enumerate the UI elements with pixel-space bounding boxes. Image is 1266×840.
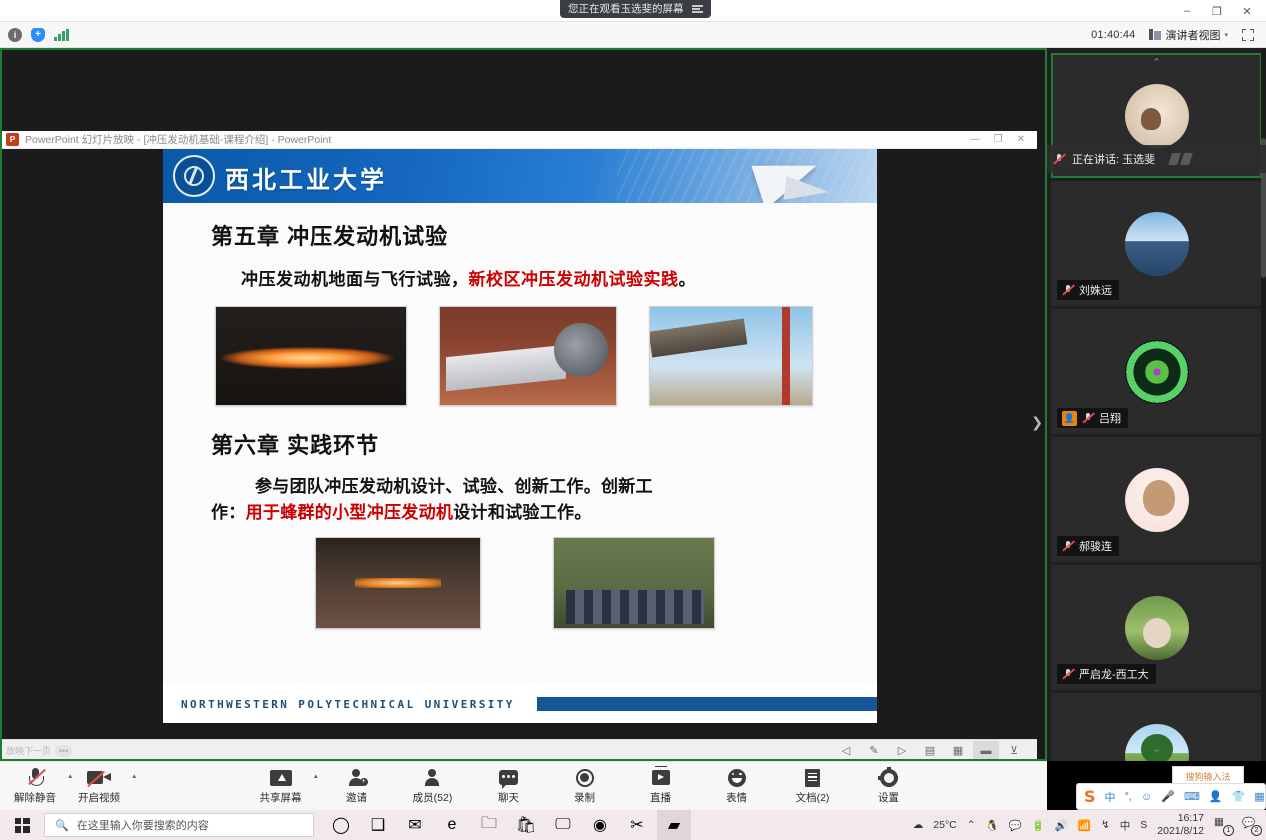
next-slide-button[interactable]: ▷	[889, 741, 915, 761]
settings-label: 设置	[878, 790, 899, 805]
ime-punctuation-toggle[interactable]: °,	[1125, 791, 1132, 803]
participant-video-sidebar[interactable]: ⌃ 正在讲话: 玉选斐 刘姝远 👤 吕翔	[1047, 48, 1266, 761]
ime-microphone-icon[interactable]: 🎤	[1161, 790, 1175, 803]
participant-tile-4[interactable]: 严启龙-西工大	[1051, 565, 1262, 690]
window-titlebar: 您正在观看玉选斐的屏幕 – ❐ ✕	[0, 0, 1266, 22]
participants-button[interactable]: 成员(52)	[410, 768, 456, 805]
participant-name: 刘姝远	[1079, 282, 1112, 298]
wifi-icon[interactable]: 📶	[1078, 819, 1091, 832]
slideshow-hint: 放映下一页 •••	[6, 744, 72, 757]
gear-icon	[880, 768, 898, 788]
next-slide-arrow[interactable]: ❯	[1031, 414, 1043, 431]
chevron-down-icon: ▾	[1224, 31, 1228, 39]
slideshow-hint-text: 放映下一页	[6, 744, 51, 757]
system-tray: ☁ 25°C ⌃ 🐧 💬 🔋 🔊 📶 ↯ 中 S 16:17 2021/8/12…	[913, 812, 1266, 838]
lab-test-stand-photo	[315, 537, 481, 629]
sogou-tray-icon[interactable]: S	[1140, 819, 1147, 831]
meeting-top-toolbar: i + 01:40:44 演讲者视图 ▾	[0, 22, 1266, 48]
clock-date: 2021/8/12	[1157, 825, 1204, 838]
city-waterfront-avatar	[1125, 212, 1189, 276]
clock-time: 16:17	[1178, 812, 1204, 825]
chapter5-subtitle: 冲压发动机地面与飞行试验，新校区冲压发动机试验实践。	[241, 265, 877, 290]
chapter6-line2-post: 设计和试验工作。	[453, 503, 591, 522]
chrome-icon[interactable]: ◉	[583, 810, 617, 840]
record-button[interactable]: 录制	[562, 768, 608, 805]
share-notice-text: 您正在观看玉选斐的屏幕	[568, 0, 684, 18]
start-video-label: 开启视频	[78, 790, 120, 805]
tray-overflow-icon[interactable]: ⌃	[967, 819, 976, 831]
more-options-button[interactable]: ▬	[973, 741, 999, 761]
invite-label: 邀请	[346, 790, 367, 805]
participant-tile-2[interactable]: 👤 吕翔	[1051, 309, 1262, 434]
shared-screen-area[interactable]: P PowerPoint 幻灯片放映 - [冲压发动机基础-课程介绍] - Po…	[0, 48, 1047, 761]
snip-tool-icon[interactable]: ✂	[620, 810, 654, 840]
mail-icon[interactable]: ✉	[398, 810, 432, 840]
microphone-muted-icon	[1062, 668, 1074, 680]
camera-off-icon	[87, 768, 111, 788]
share-screen-icon	[270, 768, 292, 788]
shield-icon[interactable]: +	[31, 28, 45, 42]
notification-count-1: 1	[1223, 825, 1234, 836]
unmute-button[interactable]: 解除静音 ▴	[12, 768, 58, 805]
powerpoint-logo-icon: P	[6, 133, 19, 146]
windows-taskbar: 🔍 在这里输入你要搜索的内容 ◯ ❑ ✉ e 🗀 🛍 🖵 ◉ ✂ ▰ ☁ 25°…	[0, 810, 1266, 840]
info-icon[interactable]: i	[8, 28, 22, 42]
mandala-avatar	[1125, 340, 1189, 404]
taskbar-search-input[interactable]: 🔍 在这里输入你要搜索的内容	[44, 813, 314, 837]
previous-slide-button[interactable]: ◁	[833, 741, 859, 761]
host-badge-icon: 👤	[1062, 411, 1077, 426]
ppt-close-button[interactable]: ✕	[1017, 134, 1025, 145]
volume-icon[interactable]: 🔊	[1055, 819, 1068, 832]
search-placeholder: 在这里输入你要搜索的内容	[77, 817, 209, 833]
document-icon	[805, 768, 820, 788]
microphone-muted-icon	[1082, 412, 1094, 424]
ppt-minimize-button[interactable]: —	[970, 134, 980, 145]
participant-name-badge: 👤 吕翔	[1057, 408, 1128, 428]
team-group-photo	[553, 537, 715, 629]
notification-count-2: 2	[1251, 825, 1262, 836]
action-center-icon[interactable]: 💬2	[1242, 816, 1260, 834]
participants-icon	[424, 768, 442, 788]
share-menu-icon[interactable]	[692, 5, 703, 13]
chat-button[interactable]: 聊天	[486, 768, 532, 805]
sogou-ime-toolbar[interactable]: S 中 °, ☺ 🎤 ⌨ 👤 👕 ▦	[1076, 783, 1266, 810]
meeting-av-controls: 解除静音 ▴ 开启视频 ▴	[12, 768, 122, 805]
ime-skin-icon[interactable]: 👕	[1232, 790, 1246, 803]
sidebar-scroll-up-icon[interactable]: ⌃	[1152, 56, 1161, 69]
documents-button[interactable]: 文档(2)	[790, 768, 836, 805]
meeting-action-buttons: 共享屏幕 ▴ + 邀请 成员(52) 聊天	[258, 768, 912, 805]
microphone-muted-icon	[1062, 540, 1074, 552]
ramjet-inlet-rig-photo	[439, 306, 617, 406]
live-label: 直播	[650, 790, 671, 805]
microphone-muted-icon	[28, 768, 42, 788]
participants-label: 成员(52)	[413, 790, 453, 805]
slideshow-control-bar: 放映下一页 ••• ◁ ✎ ▷ ▤ ▦ ▬ ⊻	[0, 739, 1037, 761]
chapter5-sub-black: 冲压发动机地面与飞行试验，	[241, 270, 469, 289]
documents-label: 文档(2)	[796, 790, 830, 805]
taskbar-app-icons: ◯ ❑ ✉ e 🗀 🛍 🖵 ◉ ✂ ▰	[324, 810, 691, 840]
share-screen-label: 共享屏幕	[260, 790, 302, 805]
ime-emoji-icon[interactable]: ☺	[1141, 791, 1152, 803]
taskbar-clock[interactable]: 16:17 2021/8/12	[1157, 812, 1204, 838]
cloud-weather-icon[interactable]: ☁	[913, 819, 924, 831]
emoji-icon	[728, 768, 746, 788]
share-screen-button[interactable]: 共享屏幕 ▴	[258, 768, 304, 805]
emoji-label: 表情	[726, 790, 747, 805]
video-options-caret-icon[interactable]: ▴	[132, 772, 136, 780]
powerpoint-title-text: PowerPoint 幻灯片放映 - [冲压发动机基础-课程介绍] - Powe…	[25, 132, 331, 147]
ppt-maximize-button[interactable]: ❐	[994, 134, 1003, 145]
presenter-view-icon	[1149, 29, 1161, 40]
slideshow-buttons: ◁ ✎ ▷ ▤ ▦ ▬ ⊻	[833, 741, 1037, 761]
chapter6-body: 参与团队冲压发动机设计、试验、创新工作。创新工 作：用于蜂群的小型冲压发动机设计…	[211, 474, 877, 525]
slide-footer: NORTHWESTERN POLYTECHNICAL UNIVERSITY	[163, 685, 877, 723]
university-name-en: NORTHWESTERN POLYTECHNICAL UNIVERSITY	[181, 698, 515, 711]
chat-label: 聊天	[498, 790, 519, 805]
paper-plane-shadow-graphic	[784, 176, 831, 203]
active-speaker-label: 正在讲话: 玉选斐	[1072, 151, 1155, 167]
meeting-status-icons: i +	[8, 28, 69, 42]
participant-name: 郝骏连	[1079, 538, 1112, 554]
participant-name-badge: 刘姝远	[1057, 280, 1119, 300]
meeting-timer: 01:40:44	[1091, 29, 1135, 41]
powerpoint-window-controls: — ❐ ✕	[970, 134, 1031, 145]
qq-icon[interactable]: 🐧	[986, 819, 999, 832]
participant-name: 吕翔	[1099, 410, 1121, 426]
zoom-meeting-icon[interactable]: ▰	[657, 810, 691, 840]
presentation-slide[interactable]: 西北工业大学 第五章 冲压发动机试验 冲压发动机地面与飞行试验，新校区冲压发动机…	[163, 149, 877, 723]
slideshow-more-chip[interactable]: •••	[55, 745, 72, 757]
maximize-button[interactable]: ❐	[1202, 0, 1232, 22]
start-button[interactable]	[0, 810, 44, 840]
unmute-label: 解除静音	[14, 790, 56, 805]
ime-indicator-icon[interactable]: 中	[1120, 818, 1131, 833]
temperature-label: 25°C	[933, 819, 956, 831]
audio-options-caret-icon[interactable]: ▴	[68, 772, 72, 780]
bluetooth-icon[interactable]: ↯	[1101, 819, 1110, 831]
microphone-muted-icon	[1053, 153, 1065, 165]
minimize-button[interactable]: –	[1172, 0, 1202, 22]
footer-accent-bar	[537, 697, 877, 711]
window-controls: – ❐ ✕	[1172, 0, 1262, 22]
audio-wave-icon	[1170, 153, 1191, 165]
university-seal-icon	[173, 155, 215, 197]
chapter6-line1: 参与团队冲压发动机设计、试验、创新工作。创新工	[255, 477, 653, 496]
chapter6-title: 第六章 实践环节	[211, 428, 877, 460]
sidebar-scroll-down-icon[interactable]: ⌄	[1152, 742, 1161, 755]
participant-name-badge: 严启龙-西工大	[1057, 664, 1156, 684]
pen-tools-button[interactable]: ✎	[861, 741, 887, 761]
close-button[interactable]: ✕	[1232, 0, 1262, 22]
chapter6-line2-red: 用于蜂群的小型冲压发动机	[246, 503, 454, 522]
invite-person-icon: +	[348, 768, 366, 788]
ime-user-icon[interactable]: 👤	[1209, 790, 1223, 803]
search-icon: 🔍	[55, 819, 69, 832]
baby-avatar	[1125, 84, 1189, 148]
cortana-icon[interactable]: ◯	[324, 810, 358, 840]
sogou-logo-icon[interactable]: S	[1084, 787, 1096, 806]
anime-girl-avatar	[1125, 468, 1189, 532]
paper-plane-graphic	[751, 149, 824, 203]
wechat-icon[interactable]: 💬	[1009, 819, 1022, 832]
participant-tile-1[interactable]: 刘姝远	[1051, 181, 1262, 306]
settings-button[interactable]: 设置	[866, 768, 912, 805]
start-video-button[interactable]: 开启视频 ▴	[76, 768, 122, 805]
view-mode-label: 演讲者视图	[1165, 27, 1220, 43]
chapter6-line2-pre: 作：	[211, 503, 246, 522]
screen-share-notice[interactable]: 您正在观看玉选斐的屏幕	[560, 0, 711, 18]
chapter6-photo-row	[315, 537, 877, 629]
remote-desktop-icon[interactable]: 🖵	[546, 810, 580, 840]
chapter5-title: 第五章 冲压发动机试验	[211, 219, 877, 251]
chapter5-sub-red: 新校区冲压发动机试验实践	[469, 270, 679, 289]
battery-icon[interactable]: 🔋	[1032, 819, 1045, 832]
ime-apps-icon[interactable]: ▦	[1254, 790, 1264, 803]
fullscreen-icon[interactable]	[1242, 29, 1254, 41]
emoji-button[interactable]: 表情	[714, 768, 760, 805]
microphone-muted-icon	[1062, 284, 1074, 296]
all-slides-button[interactable]: ▤	[917, 741, 943, 761]
children-avatar	[1125, 596, 1189, 660]
record-icon	[576, 768, 594, 788]
participant-name: 严启龙-西工大	[1079, 666, 1149, 682]
ime-language-toggle[interactable]: 中	[1105, 789, 1116, 805]
microsoft-store-icon[interactable]: 🛍	[509, 810, 543, 840]
edge-icon[interactable]: e	[435, 810, 469, 840]
view-mode-selector[interactable]: 演讲者视图 ▾	[1149, 27, 1228, 43]
university-name-cn: 西北工业大学	[225, 160, 387, 195]
ime-keyboard-icon[interactable]: ⌨	[1184, 790, 1200, 803]
meeting-top-right: 01:40:44 演讲者视图 ▾	[1091, 27, 1258, 43]
network-signal-icon[interactable]	[54, 29, 69, 41]
share-options-caret-icon[interactable]: ▴	[314, 772, 318, 780]
windows-start-icon	[15, 818, 30, 833]
participant-tile-3[interactable]: 郝骏连	[1051, 437, 1262, 562]
participant-name-badge: 郝骏连	[1057, 536, 1119, 556]
file-explorer-icon[interactable]: 🗀	[472, 810, 506, 840]
zoom-slide-button[interactable]: ▦	[945, 741, 971, 761]
rocket-launch-rail-photo	[649, 306, 813, 406]
chat-bubble-icon	[499, 768, 518, 788]
end-show-button[interactable]: ⊻	[1001, 741, 1027, 761]
live-broadcast-icon	[652, 768, 670, 788]
slide-header-banner: 西北工业大学	[163, 149, 877, 203]
powerpoint-titlebar: P PowerPoint 幻灯片放映 - [冲压发动机基础-课程介绍] - Po…	[0, 131, 1037, 149]
meeting-bottom-toolbar: 解除静音 ▴ 开启视频 ▴ 共享屏幕 ▴ + 邀请	[0, 761, 1047, 810]
chapter5-sub-end: 。	[679, 270, 697, 289]
chapter5-photo-row	[215, 306, 877, 406]
live-broadcast-button[interactable]: 直播	[638, 768, 684, 805]
meeting-notification-icon[interactable]: ▦1	[1214, 816, 1232, 834]
task-view-icon[interactable]: ❑	[361, 810, 395, 840]
ramjet-flame-test-photo	[215, 306, 407, 406]
active-speaker-banner: 正在讲话: 玉选斐	[1047, 145, 1266, 173]
invite-button[interactable]: + 邀请	[334, 768, 380, 805]
screen-root: 您正在观看玉选斐的屏幕 – ❐ ✕ i + 01:40:44 演讲者视图 ▾	[0, 0, 1266, 840]
record-label: 录制	[574, 790, 595, 805]
slide-body: 第五章 冲压发动机试验 冲压发动机地面与飞行试验，新校区冲压发动机试验实践。 第…	[163, 203, 877, 723]
